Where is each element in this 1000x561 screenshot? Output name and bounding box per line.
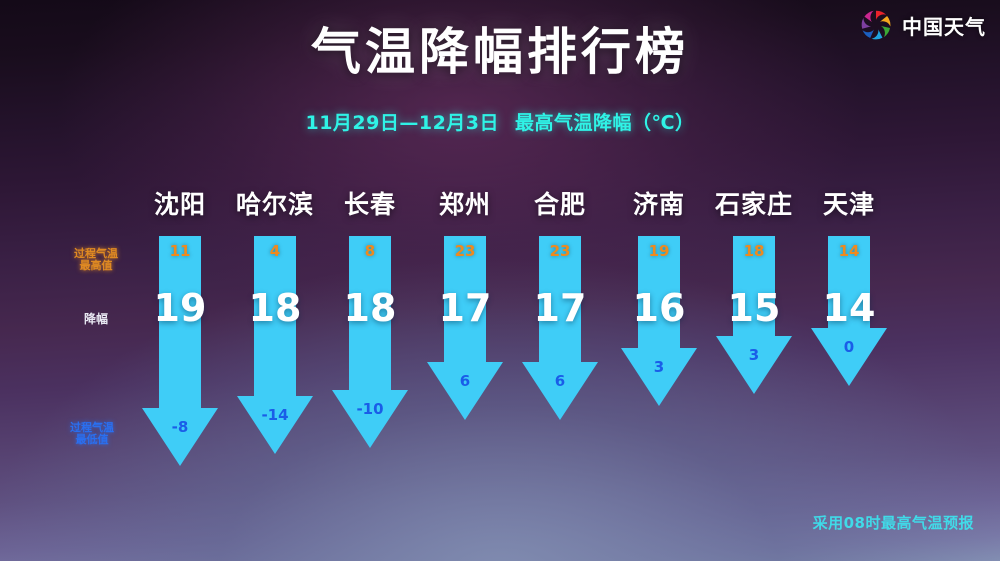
city-column: 哈尔滨418-14 [227,185,323,474]
low-temp-value: -14 [227,406,323,424]
drop-arrow: 1119-8 [132,236,228,486]
high-temp-value: 23 [512,242,608,260]
low-temp-value: 6 [512,372,608,390]
temp-drop-value: 18 [227,286,323,330]
city-label: 石家庄 [706,185,802,221]
watermark-note: 采用08时最高气温预报 [813,512,974,533]
temp-drop-value: 16 [611,286,707,330]
city-label: 哈尔滨 [227,185,323,221]
infographic-canvas: 中国天气 气温降幅排行榜 11月29日—12月3日最高气温降幅（℃） 过程气温 … [0,0,1000,561]
city-column: 郑州23176 [417,185,513,440]
high-temp-value: 11 [132,242,228,260]
low-temp-value: -10 [322,400,418,418]
drop-arrow: 14140 [801,236,897,406]
high-temp-value: 18 [706,242,802,260]
temp-drop-value: 19 [132,286,228,330]
drop-arrow: 23176 [512,236,608,440]
drop-arrow: 19163 [611,236,707,426]
low-temp-value: -8 [132,418,228,436]
city-label: 济南 [611,185,707,221]
temp-drop-value: 18 [322,286,418,330]
high-temp-value: 14 [801,242,897,260]
high-temp-value: 23 [417,242,513,260]
drop-arrow: 18153 [706,236,802,414]
arrow-chart: 沈阳1119-8哈尔滨418-14长春818-10郑州23176合肥23176济… [0,0,1000,561]
low-temp-value: 6 [417,372,513,390]
city-column: 济南19163 [611,185,707,426]
low-temp-value: 0 [801,338,897,356]
high-temp-value: 4 [227,242,323,260]
city-label: 合肥 [512,185,608,221]
low-temp-value: 3 [706,346,802,364]
city-column: 长春818-10 [322,185,418,468]
city-label: 沈阳 [132,185,228,221]
city-column: 石家庄18153 [706,185,802,414]
low-temp-value: 3 [611,358,707,376]
temp-drop-value: 15 [706,286,802,330]
city-label: 天津 [801,185,897,221]
drop-arrow: 23176 [417,236,513,440]
temp-drop-value: 17 [512,286,608,330]
city-column: 天津14140 [801,185,897,406]
city-label: 郑州 [417,185,513,221]
city-column: 合肥23176 [512,185,608,440]
high-temp-value: 8 [322,242,418,260]
city-column: 沈阳1119-8 [132,185,228,486]
drop-arrow: 418-14 [227,236,323,474]
temp-drop-value: 17 [417,286,513,330]
drop-arrow: 818-10 [322,236,418,468]
high-temp-value: 19 [611,242,707,260]
temp-drop-value: 14 [801,286,897,330]
city-label: 长春 [322,185,418,221]
